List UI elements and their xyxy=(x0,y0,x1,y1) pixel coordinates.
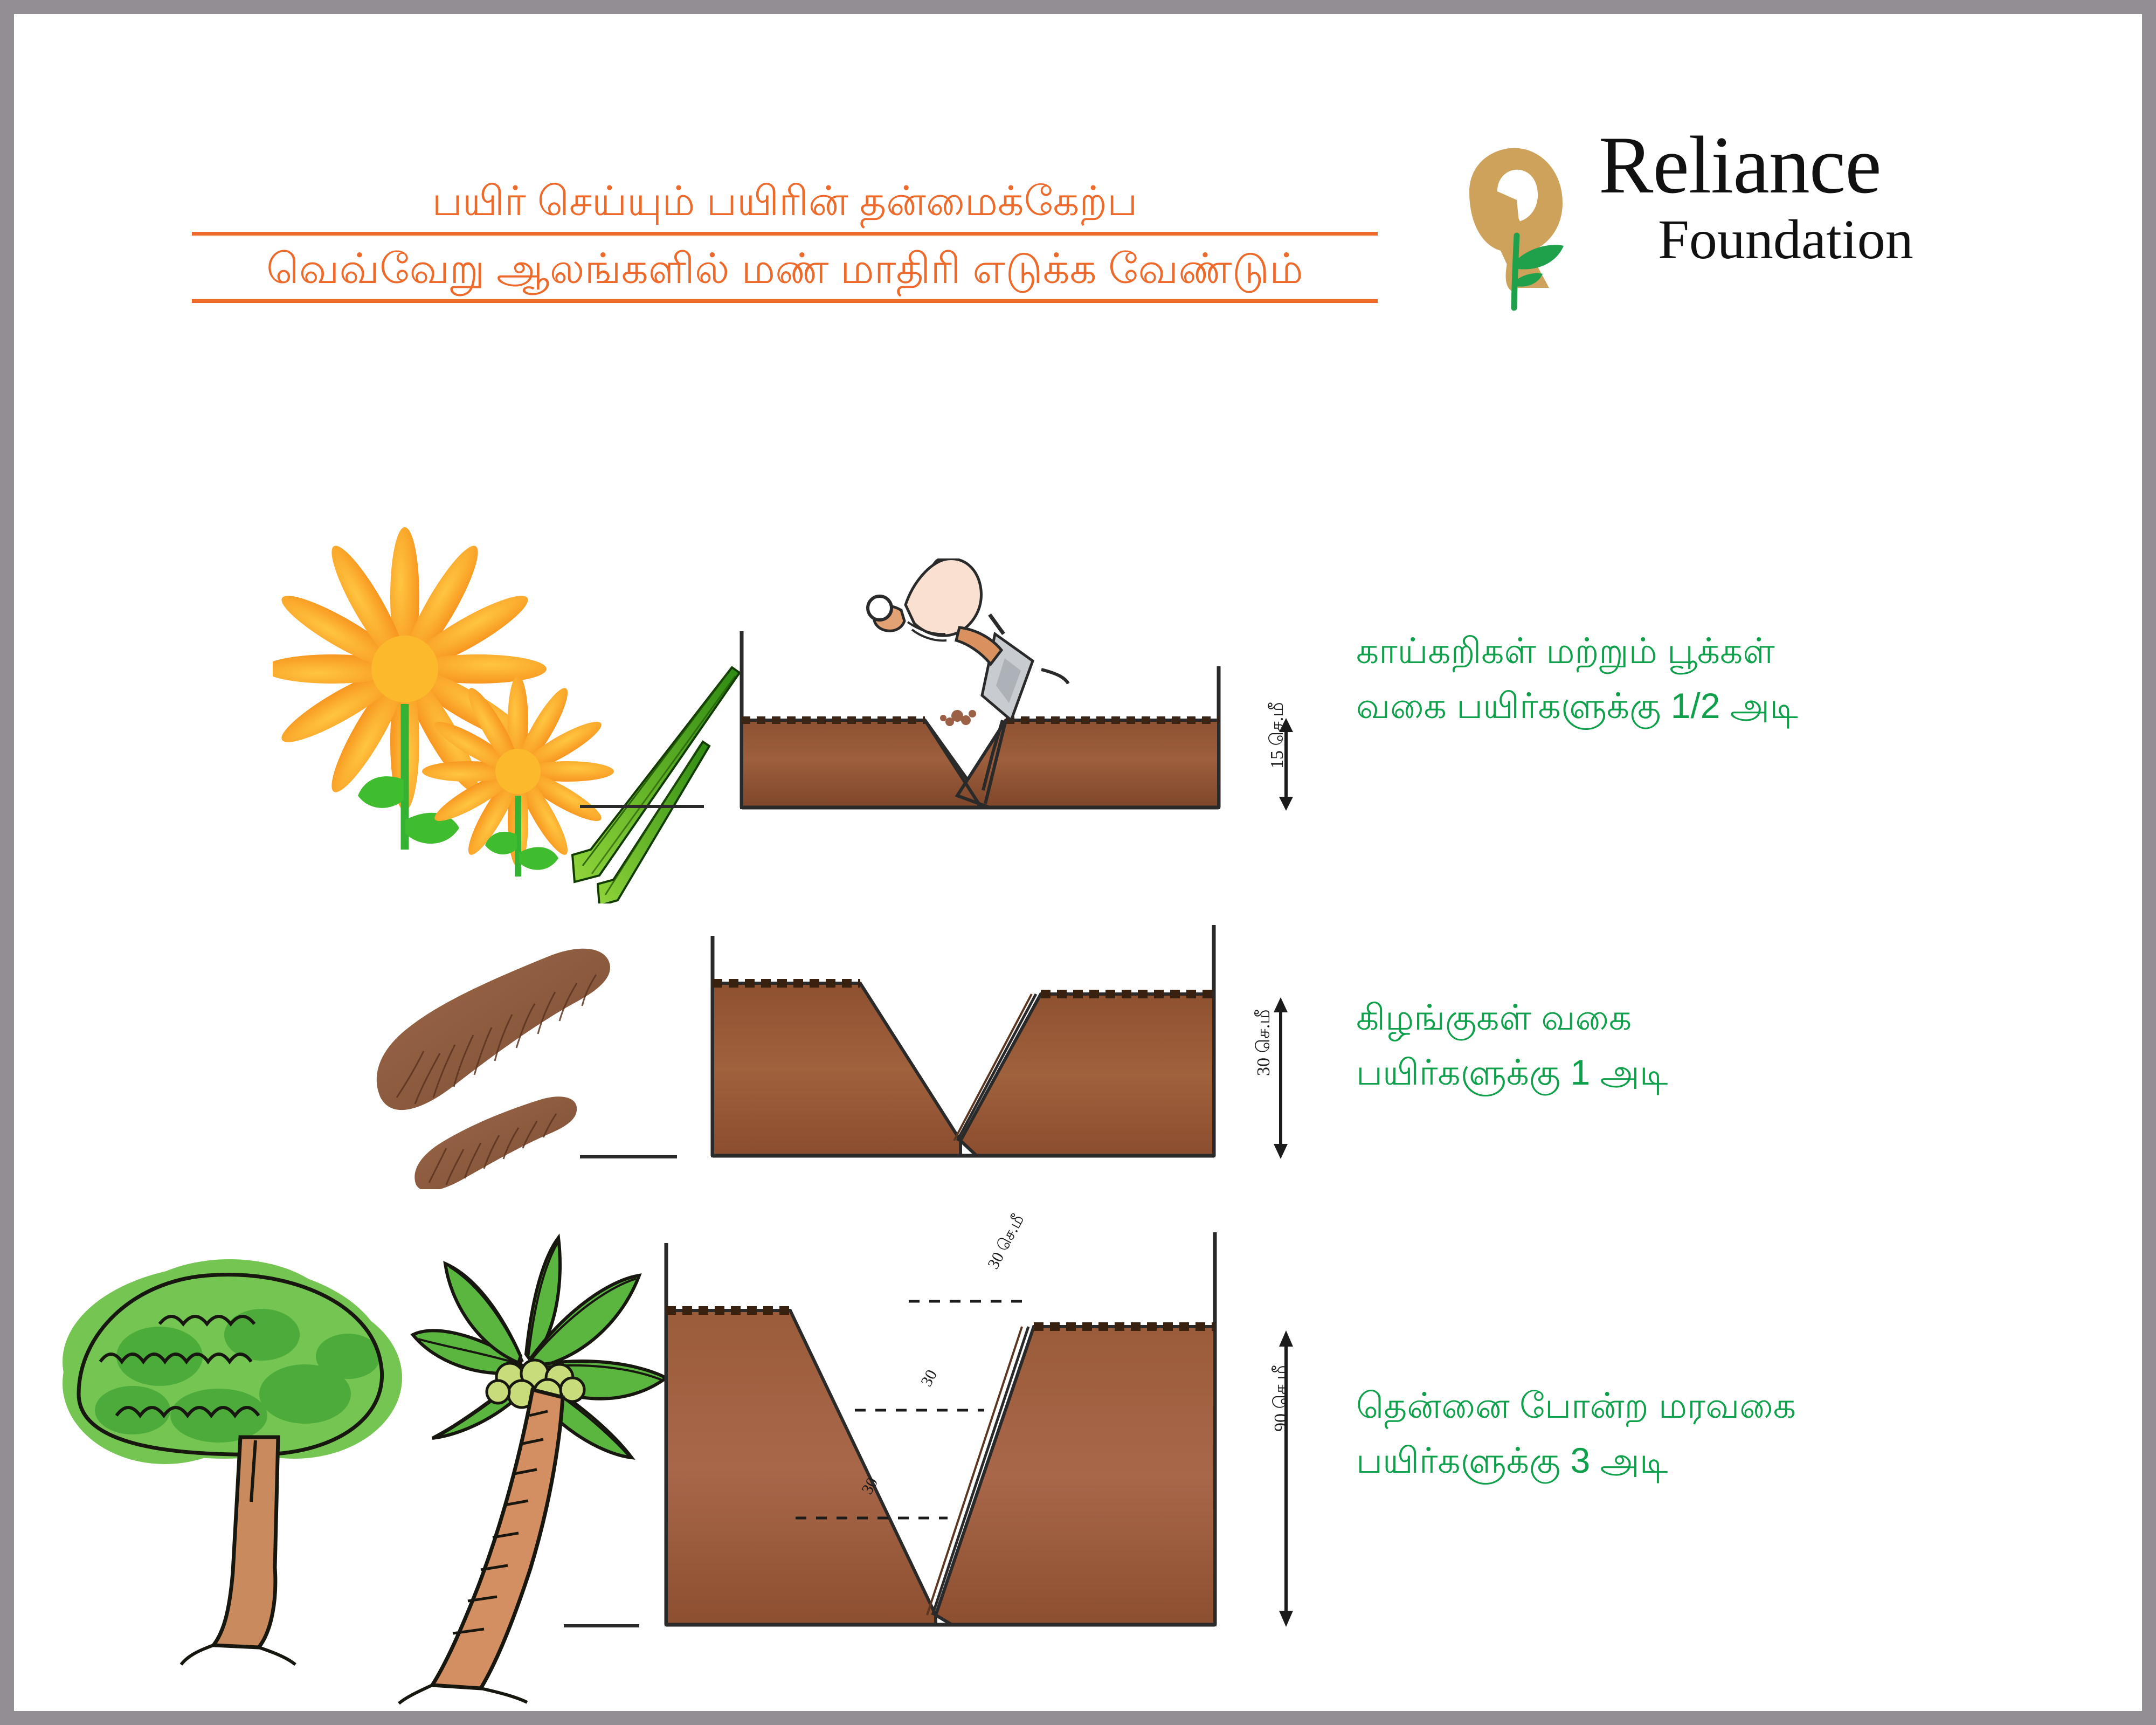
caption-line-2: பயிர்களுக்கு 3 அடி xyxy=(1356,1433,1796,1488)
title-line-2: வெவ்வேறு ஆலங்களில் மண் மாதிரி எடுக்க வேண… xyxy=(192,247,1378,303)
caption-tubers: கிழங்குகள் வகை பயிர்களுக்கு 1 அடி xyxy=(1356,990,1668,1100)
page-title: பயிர் செய்யும் பயிரின் தன்மைக்கேற்ப வெவ்… xyxy=(192,181,1378,315)
tuber-large xyxy=(377,949,610,1110)
logo-wordmark: Reliance Foundation xyxy=(1599,123,2084,269)
row-trees: 90 செ.மீ 30 செ.மீ 30 30 தென்னை போன்ற மரவ… xyxy=(14,1200,2142,1711)
hand-illustration xyxy=(868,559,1001,664)
caption-line-1: காய்கறிகள் மற்றும் பூக்கள் xyxy=(1356,623,1798,678)
caption-line-1: தென்னை போன்ற மரவகை xyxy=(1356,1378,1796,1433)
infographic-canvas: பயிர் செய்யும் பயிரின் தன்மைக்கேற்ப வெவ்… xyxy=(14,14,2142,1711)
depth-label-30cm: 30 செ.மீ xyxy=(1254,1009,1276,1076)
row-vegetables-flowers: 15 செ.மீ காய்கறிகள் மற்றும் பூக்கள் வகை … xyxy=(14,532,2142,887)
logo-subtitle: Foundation xyxy=(1658,210,2084,269)
soil-pit-diagram-90cm xyxy=(564,1216,1345,1685)
depth-label-90cm: 90 செ.மீ xyxy=(1271,1365,1294,1432)
depth-label-15cm: 15 செ.மீ xyxy=(1267,702,1290,769)
soil-pit-diagram-15cm xyxy=(580,558,1335,860)
logo-name: Reliance xyxy=(1599,123,2084,207)
caption-line-2: பயிர்களுக்கு 1 அடி xyxy=(1356,1045,1668,1100)
tuber-small xyxy=(414,1096,577,1189)
caption-line-1: கிழங்குகள் வகை xyxy=(1356,990,1668,1045)
shade-tree xyxy=(63,1259,402,1665)
infographic-page: பயிர் செய்யும் பயிரின் தன்மைக்கேற்ப வெவ்… xyxy=(0,0,2156,1725)
reliance-foundation-logo: Reliance Foundation xyxy=(1437,135,2084,319)
title-line-1: பயிர் செய்யும் பயிரின் தன்மைக்கேற்ப xyxy=(192,181,1378,236)
caption-vegetables-flowers: காய்கறிகள் மற்றும் பூக்கள் வகை பயிர்களுக… xyxy=(1356,623,1798,734)
reliance-r-flower-icon xyxy=(1437,135,1615,313)
soil-pit-diagram-30cm xyxy=(580,887,1335,1211)
caption-line-2: வகை பயிர்களுக்கு 1/2 அடி xyxy=(1356,678,1798,733)
caption-trees: தென்னை போன்ற மரவகை பயிர்களுக்கு 3 அடி xyxy=(1356,1378,1796,1488)
